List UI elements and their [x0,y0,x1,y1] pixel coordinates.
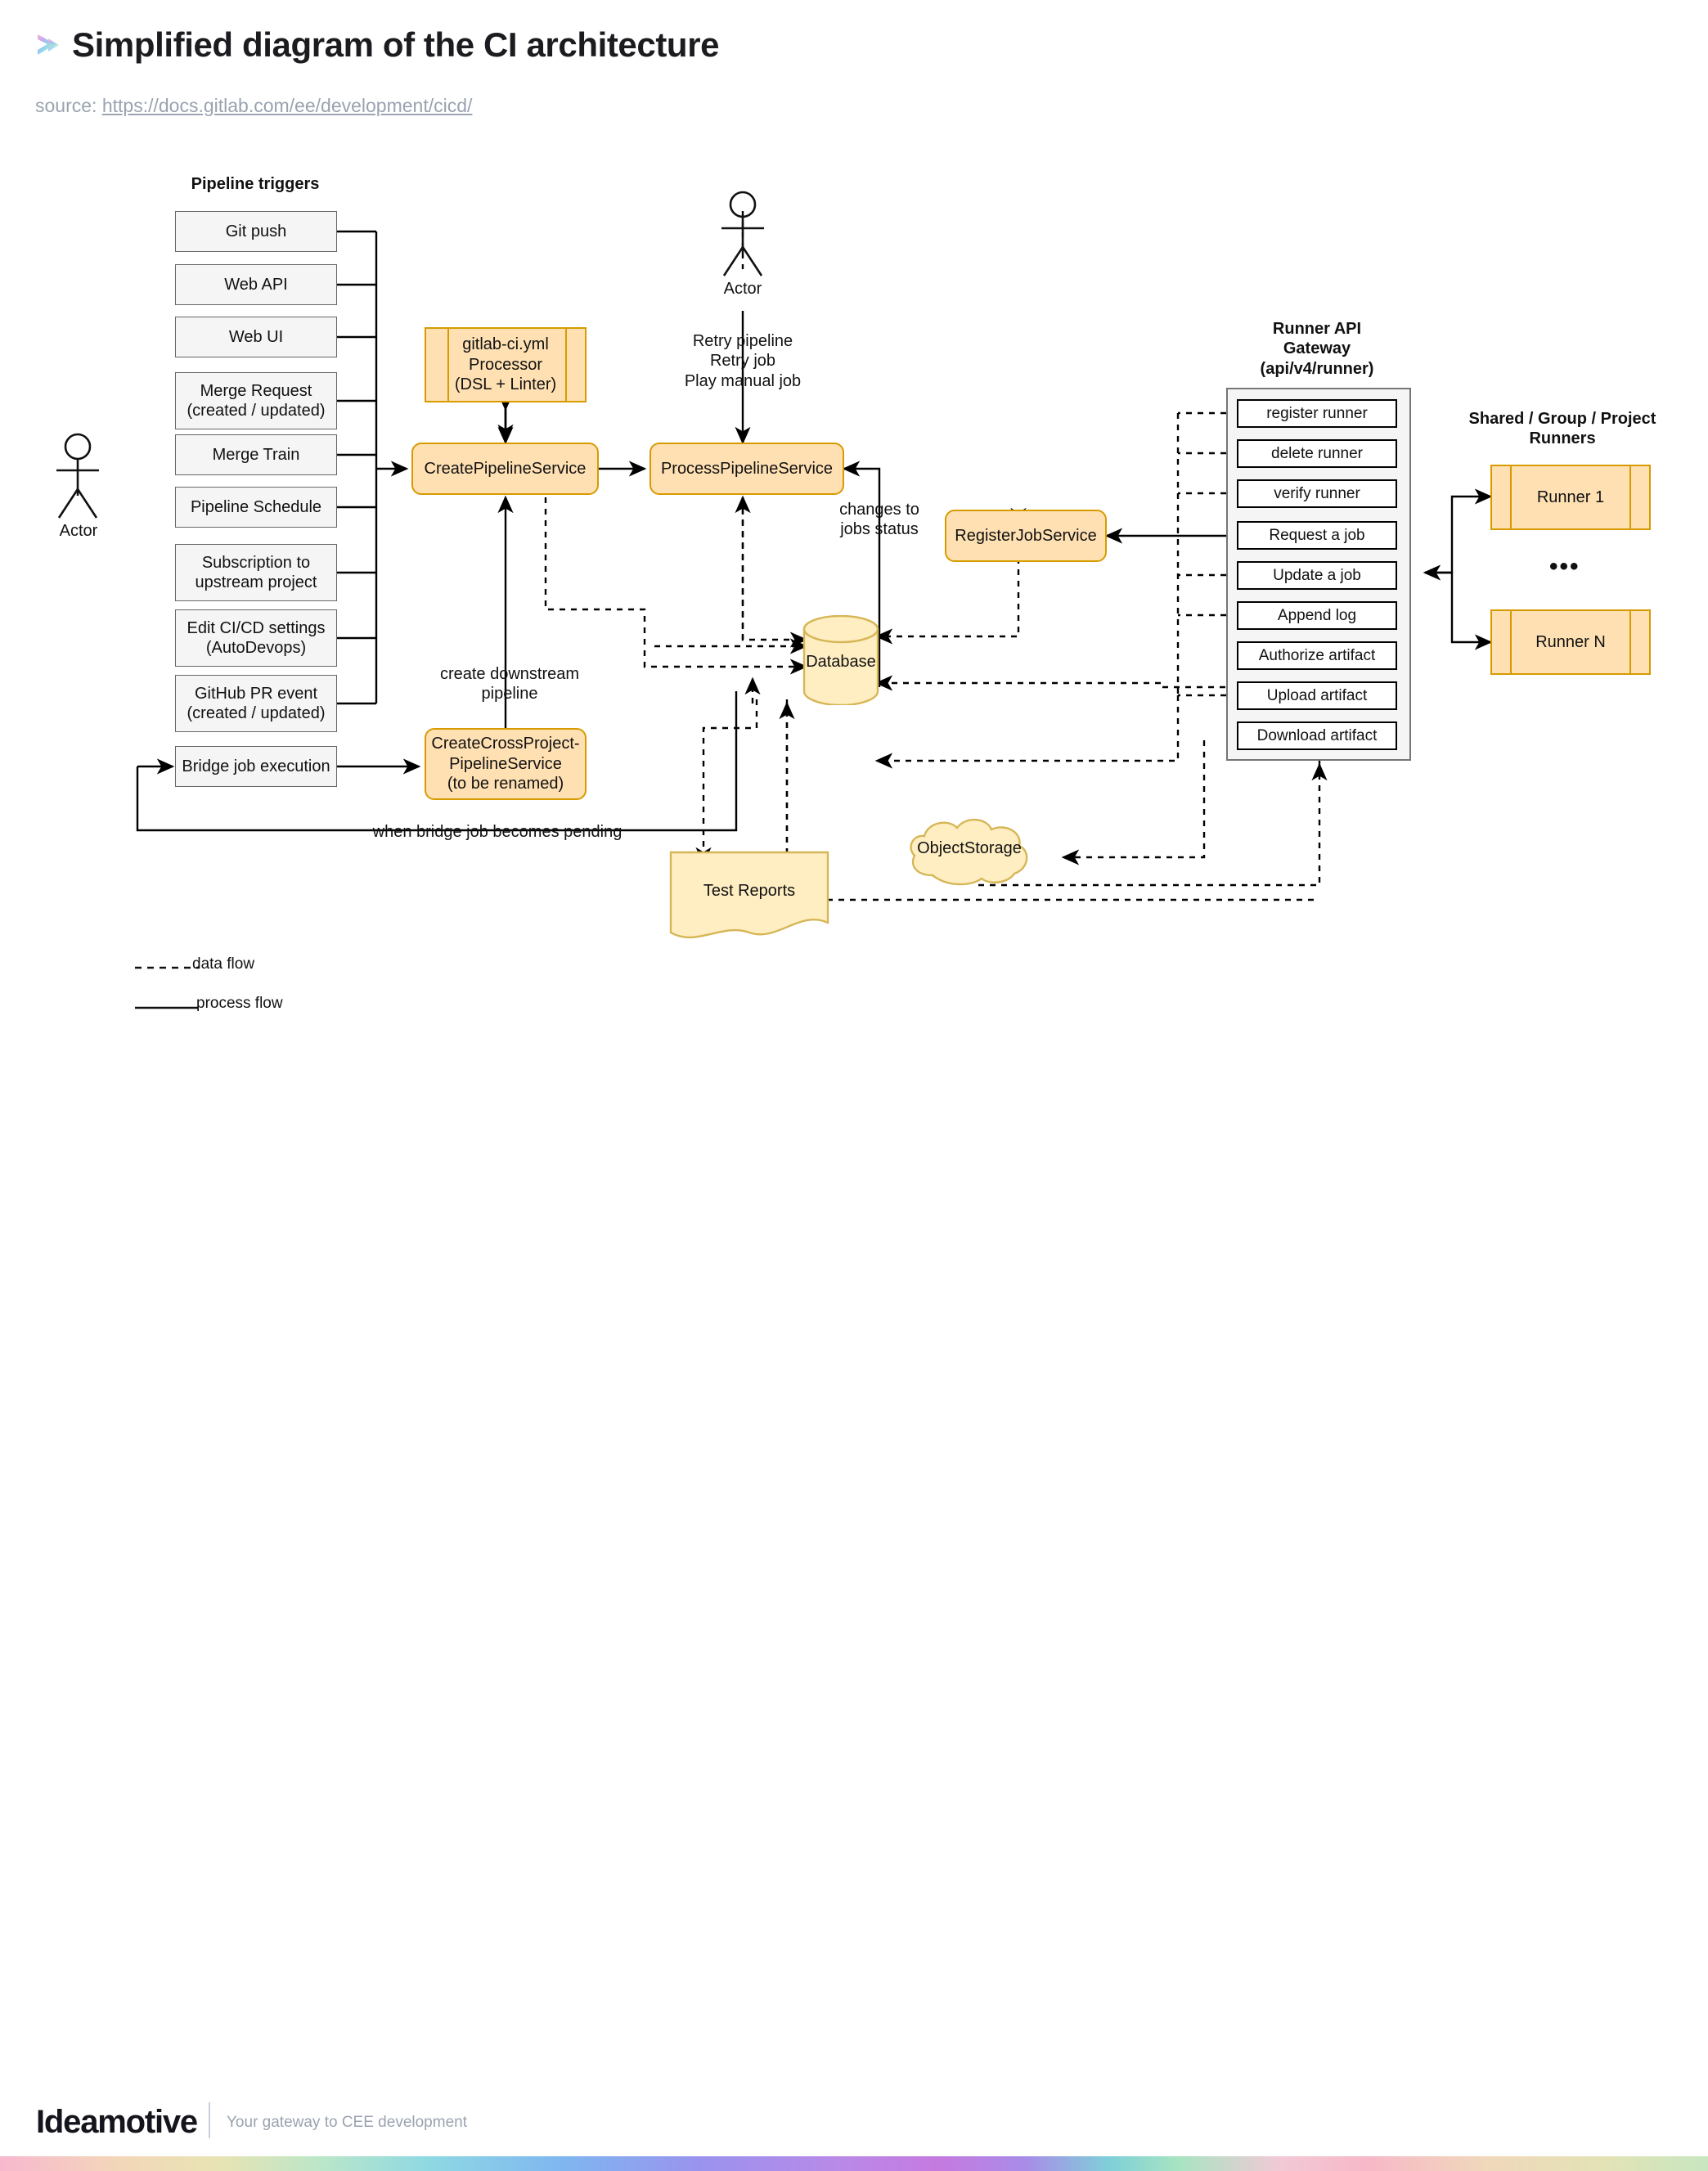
top-actor-label: Actor [715,280,771,299]
trigger-box-github-pr-event[interactable]: GitHub PR event (created / updated) [175,675,337,732]
runner-n-node[interactable]: Runner N [1490,609,1651,675]
ci-architecture-diagram: Actor Actor Retry pipeline Retry job Pla… [0,0,1708,1139]
footer-tagline: Your gateway to CEE development [227,2114,467,2132]
database-node[interactable]: Database [802,615,880,705]
api-item-label: Download artifact [1257,727,1378,745]
bridge-job-pending-label: when bridge job becomes pending [366,822,628,842]
page-footer: Ideamotive Your gateway to CEE developme… [0,1032,1708,1139]
register-job-service-node[interactable]: RegisterJobService [945,510,1107,562]
register-job-service-label: RegisterJobService [955,526,1096,546]
api-item-label: register runner [1266,405,1368,423]
runners-heading: Shared / Group / Project Runners [1464,409,1661,449]
legend-solid-line-icon [135,1001,200,1014]
trigger-label: Subscription to upstream project [196,553,317,593]
api-item-label: Upload artifact [1267,687,1368,705]
api-item-download-artifact[interactable]: Download artifact [1237,721,1397,750]
footer-divider [209,2102,210,2138]
trigger-label: Pipeline Schedule [191,497,321,517]
trigger-box-merge-train[interactable]: Merge Train [175,434,337,475]
top-actor-icon [699,190,789,288]
footer-gradient-strip [0,2156,1708,2171]
api-item-delete-runner[interactable]: delete runner [1237,439,1397,468]
trigger-label: Bridge job execution [182,757,330,776]
pipeline-triggers-heading: Pipeline triggers [173,174,337,194]
runner-api-gateway-heading: Runner API Gateway (api/v4/runner) [1223,319,1411,379]
trigger-label: Merge Request (created / updated) [187,381,326,421]
object-storage-node[interactable]: ObjectStorage [900,810,1039,888]
trigger-label: Git push [226,222,286,241]
legend-dashed-line-icon [135,961,200,974]
trigger-label: Web API [224,275,287,294]
gitlab-ci-yml-processor-label: gitlab-ci.yml Processor (DSL + Linter) [426,329,585,401]
runner-ellipsis: ••• [1549,553,1580,581]
legend-data-flow-label: data flow [192,955,254,973]
object-storage-label: ObjectStorage [900,839,1039,858]
legend-process-flow-label: process flow [196,995,283,1013]
trigger-box-edit-cicd-settings[interactable]: Edit CI/CD settings (AutoDevops) [175,609,337,667]
api-item-authorize-artifact[interactable]: Authorize artifact [1237,641,1397,670]
api-item-label: delete runner [1271,445,1363,463]
create-downstream-pipeline-label: create downstream pipeline [432,664,587,704]
api-item-label: Request a job [1269,527,1364,545]
trigger-box-bridge-job-execution[interactable]: Bridge job execution [175,746,337,787]
api-item-request-a-job[interactable]: Request a job [1237,521,1397,550]
api-item-label: Authorize artifact [1259,647,1376,665]
gitlab-ci-yml-processor-component[interactable]: gitlab-ci.yml Processor (DSL + Linter) [425,327,587,402]
test-reports-node[interactable]: Test Reports [669,851,829,941]
trigger-label: Merge Train [213,445,300,465]
api-item-append-log[interactable]: Append log [1237,601,1397,630]
api-item-update-a-job[interactable]: Update a job [1237,561,1397,590]
api-item-verify-runner[interactable]: verify runner [1237,479,1397,508]
trigger-label: GitHub PR event (created / updated) [187,684,326,724]
create-pipeline-service-node[interactable]: CreatePipelineService [411,443,599,495]
api-item-label: verify runner [1274,485,1360,503]
api-item-label: Update a job [1273,567,1361,585]
process-pipeline-service-label: ProcessPipelineService [661,459,833,479]
process-pipeline-service-node[interactable]: ProcessPipelineService [649,443,844,495]
left-actor-label: Actor [51,522,106,541]
trigger-box-git-push[interactable]: Git push [175,211,337,252]
test-reports-label: Test Reports [669,882,829,901]
api-item-label: Append log [1278,607,1356,625]
runner-1-node[interactable]: Runner 1 [1490,465,1651,530]
trigger-box-subscription[interactable]: Subscription to upstream project [175,544,337,601]
api-item-register-runner[interactable]: register runner [1237,399,1397,428]
runner-n-label: Runner N [1492,611,1649,673]
trigger-label: Web UI [229,327,283,347]
trigger-box-web-ui[interactable]: Web UI [175,317,337,357]
trigger-box-web-api[interactable]: Web API [175,264,337,305]
create-cross-project-pipeline-service-node[interactable]: CreateCrossProject- PipelineService (to … [425,728,587,800]
trigger-label: Edit CI/CD settings (AutoDevops) [187,618,326,658]
runner-1-label: Runner 1 [1492,466,1649,528]
trigger-box-merge-request[interactable]: Merge Request (created / updated) [175,372,337,429]
cross-project-service-label: CreateCrossProject- PipelineService (to … [431,734,579,793]
trigger-box-pipeline-schedule[interactable]: Pipeline Schedule [175,487,337,528]
top-actor-flow-label: Retry pipeline Retry job Play manual job [661,331,825,391]
left-actor-icon [51,432,141,530]
changes-to-jobs-status-label: changes to jobs status [822,500,937,540]
create-pipeline-service-label: CreatePipelineService [425,459,587,479]
ideamotive-logo: Ideamotive [36,2104,197,2141]
api-item-upload-artifact[interactable]: Upload artifact [1237,681,1397,710]
database-label: Database [802,653,880,672]
